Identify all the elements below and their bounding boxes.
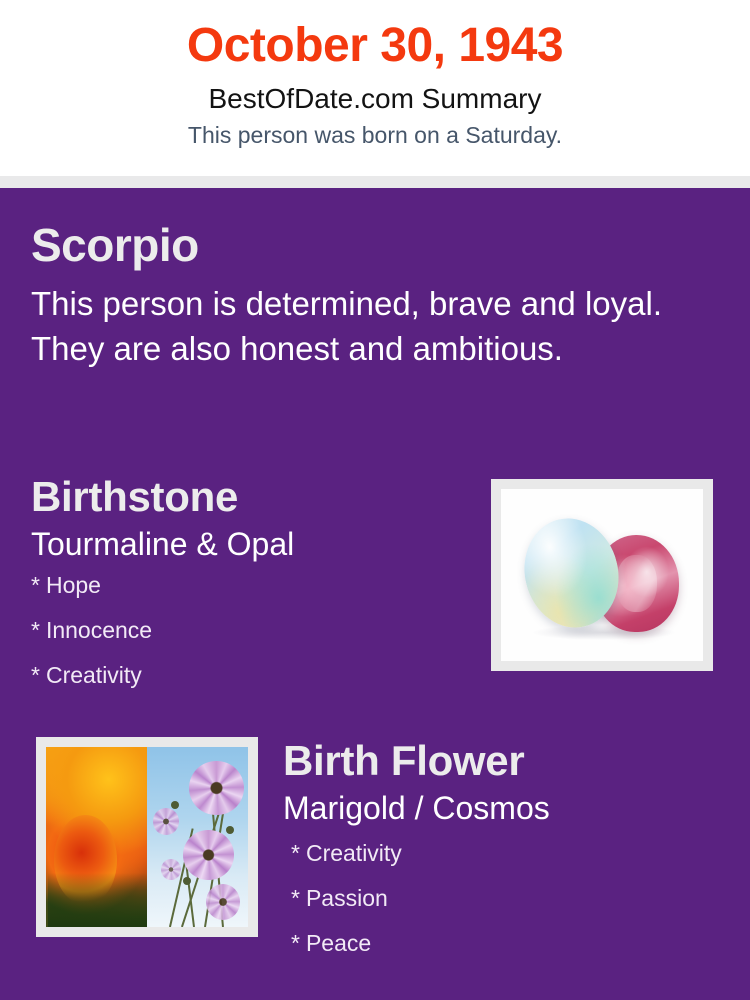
bullet-asterisk-icon: * xyxy=(31,664,46,687)
birthstone-trait-label: Hope xyxy=(46,572,101,598)
content-panel: Scorpio This person is determined, brave… xyxy=(0,188,750,1000)
list-item: *Passion xyxy=(291,887,733,932)
birthstone-section: Birthstone Tourmaline & Opal *Hope *Inno… xyxy=(31,476,471,709)
page-title-date: October 30, 1943 xyxy=(0,0,750,70)
flower-bud xyxy=(226,826,234,834)
zodiac-description: This person is determined, brave and loy… xyxy=(31,268,691,371)
bullet-asterisk-icon: * xyxy=(291,887,306,910)
bullet-asterisk-icon: * xyxy=(291,932,306,955)
bullet-asterisk-icon: * xyxy=(31,574,46,597)
cosmos-flower-icon xyxy=(189,761,244,815)
summary-page: October 30, 1943 BestOfDate.com Summary … xyxy=(0,0,750,1000)
birth-flower-section: Birth Flower Marigold / Cosmos *Creativi… xyxy=(283,740,733,977)
birth-flower-trait-label: Peace xyxy=(306,930,371,956)
birthstone-name: Tourmaline & Opal xyxy=(31,518,471,560)
birthstone-image-frame xyxy=(491,479,713,671)
flower-bud xyxy=(183,877,191,885)
birthstone-trait-label: Creativity xyxy=(46,662,142,688)
birth-flower-trait-label: Creativity xyxy=(306,840,402,866)
marigold-photo-half xyxy=(46,747,147,927)
list-item: *Innocence xyxy=(31,619,471,664)
zodiac-sign-title: Scorpio xyxy=(31,222,701,268)
site-name-subtitle: BestOfDate.com Summary xyxy=(0,70,750,113)
birthstone-photo xyxy=(501,489,703,661)
bullet-asterisk-icon: * xyxy=(291,842,306,865)
birthstone-trait-list: *Hope *Innocence *Creativity xyxy=(31,560,471,709)
birthstone-trait-label: Innocence xyxy=(46,617,152,643)
cosmos-flower-icon xyxy=(153,808,179,835)
birth-flower-title: Birth Flower xyxy=(283,740,733,782)
bullet-asterisk-icon: * xyxy=(31,619,46,642)
cosmos-flower-icon xyxy=(206,884,240,920)
birthstone-title: Birthstone xyxy=(31,476,471,518)
list-item: *Hope xyxy=(31,574,471,619)
list-item: *Creativity xyxy=(291,842,733,887)
birth-flower-name: Marigold / Cosmos xyxy=(283,782,733,824)
cosmos-flower-icon xyxy=(183,830,234,880)
weekday-note: This person was born on a Saturday. xyxy=(0,113,750,147)
zodiac-section: Scorpio This person is determined, brave… xyxy=(31,222,701,371)
birth-flower-trait-list: *Creativity *Passion *Peace xyxy=(283,824,733,977)
cosmos-photo-half xyxy=(147,747,248,927)
page-header: October 30, 1943 BestOfDate.com Summary … xyxy=(0,0,750,176)
flower-bud xyxy=(171,801,179,809)
header-divider xyxy=(0,176,750,188)
birth-flower-photo xyxy=(46,747,248,927)
birth-flower-image-frame xyxy=(36,737,258,937)
cosmos-flower-icon xyxy=(161,859,181,881)
list-item: *Creativity xyxy=(31,664,471,709)
birth-flower-trait-label: Passion xyxy=(306,885,388,911)
list-item: *Peace xyxy=(291,932,733,977)
